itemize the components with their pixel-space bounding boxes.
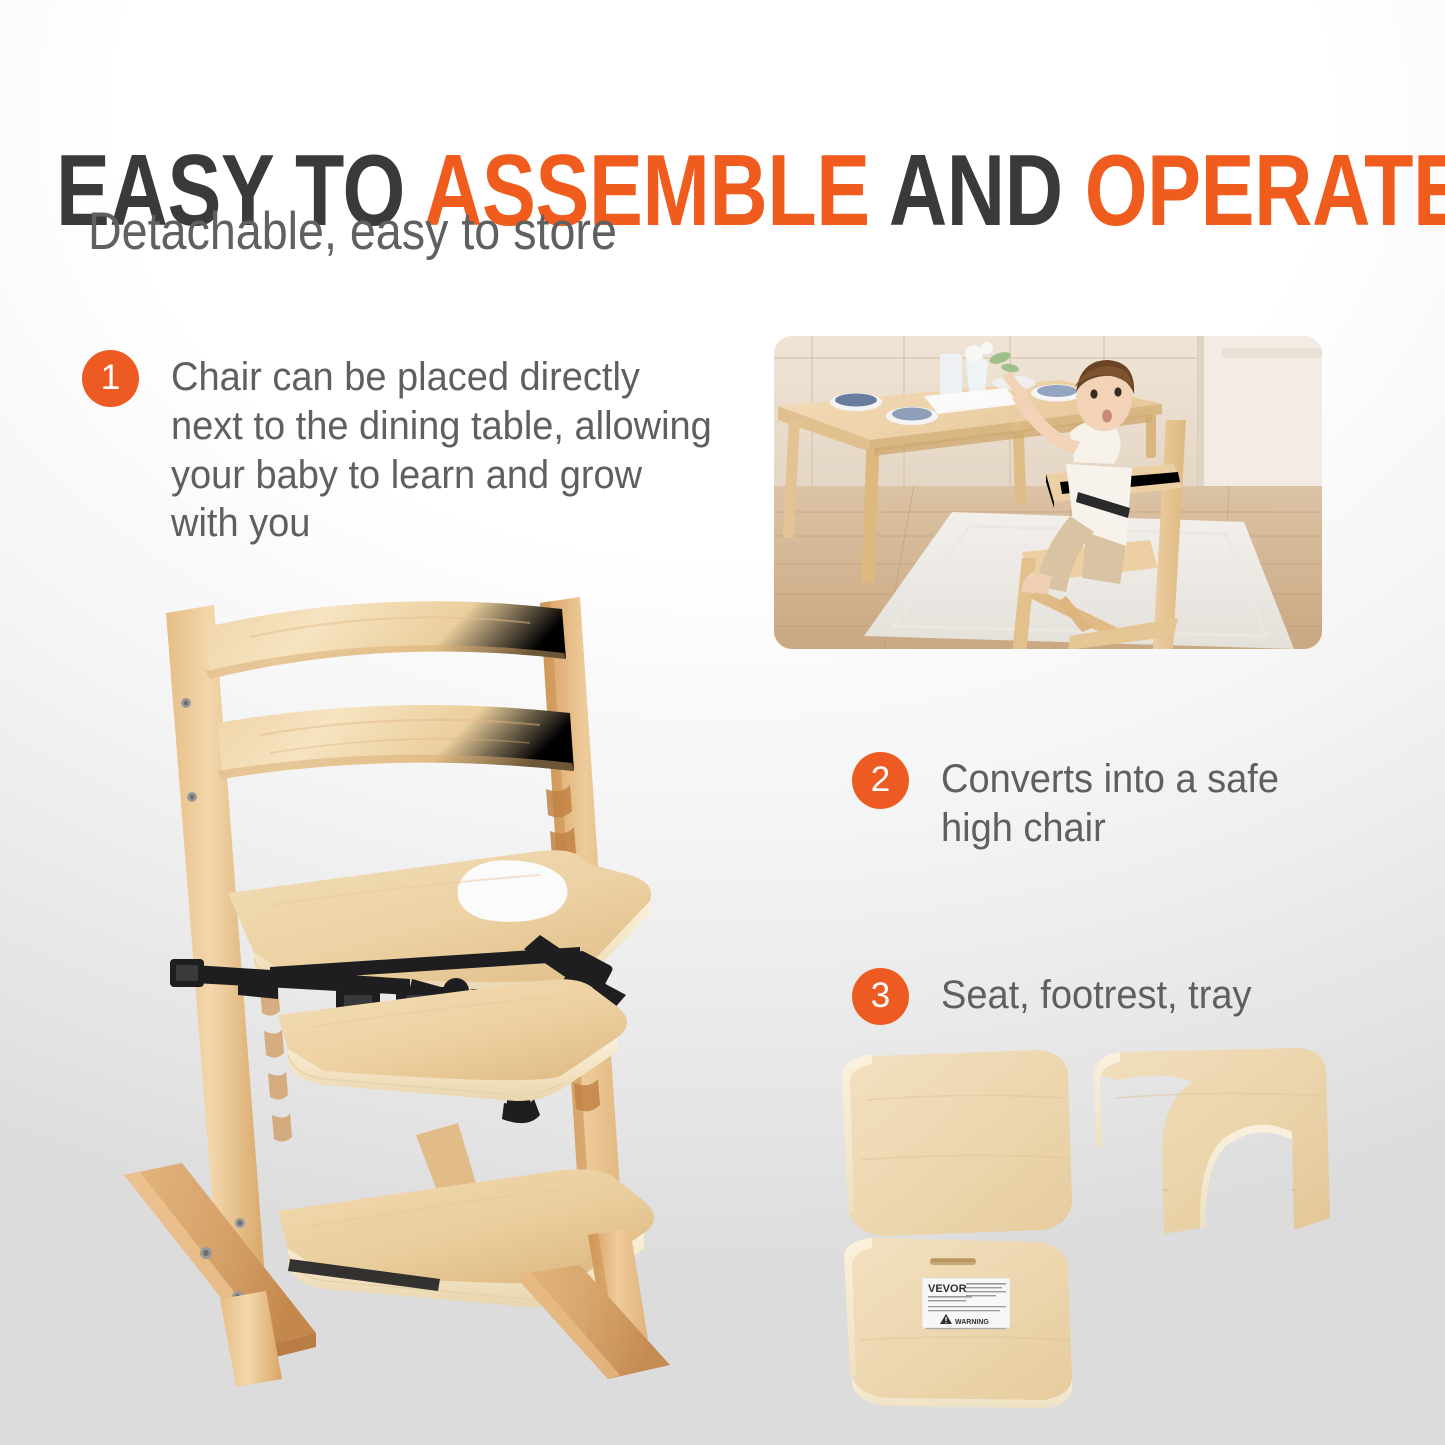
backrest-slat-upper (206, 601, 566, 679)
vevor-product-label: VEVOR (922, 1278, 1010, 1329)
part-seat-plate (842, 1050, 1072, 1236)
product-chair-image (110, 575, 770, 1405)
part-footrest-plate: VEVOR (844, 1238, 1072, 1408)
feature-badge-1: 1 (82, 350, 139, 407)
infographic-page: EASY TO ASSEMBLE AND OPERATE Detachable,… (0, 0, 1445, 1445)
headline-segment-4: OPERATE (1085, 135, 1445, 247)
product-chair-illustration (110, 575, 770, 1405)
feature-text-1: Chair can be placed directly next to the… (171, 350, 713, 548)
feature-text-2: Converts into a safe high chair (941, 752, 1331, 853)
feature-item-1: 1 Chair can be placed directly next to t… (82, 350, 742, 548)
feature-badge-2: 2 (852, 752, 909, 809)
feature-item-2: 2 Converts into a safe high chair (852, 752, 1352, 853)
parts-group: VEVOR (826, 1040, 1366, 1410)
headline-segment-3: AND (889, 135, 1085, 247)
lifestyle-photo-illustration (774, 336, 1322, 649)
part-tray-plate (1094, 1048, 1330, 1234)
parts-illustration: VEVOR (826, 1040, 1366, 1410)
feature-item-3: 3 Seat, footrest, tray (852, 968, 1352, 1025)
backrest-slat-lower (218, 705, 574, 779)
vevor-label-brand: VEVOR (928, 1283, 967, 1295)
base-runner-right (514, 1265, 670, 1379)
feature-text-3: Seat, footrest, tray (941, 968, 1251, 1020)
page-subtitle: Detachable, easy to store (88, 203, 617, 261)
feature-badge-3: 3 (852, 968, 909, 1025)
lifestyle-photo (774, 336, 1322, 649)
vevor-label-warning: WARNING (955, 1319, 989, 1326)
